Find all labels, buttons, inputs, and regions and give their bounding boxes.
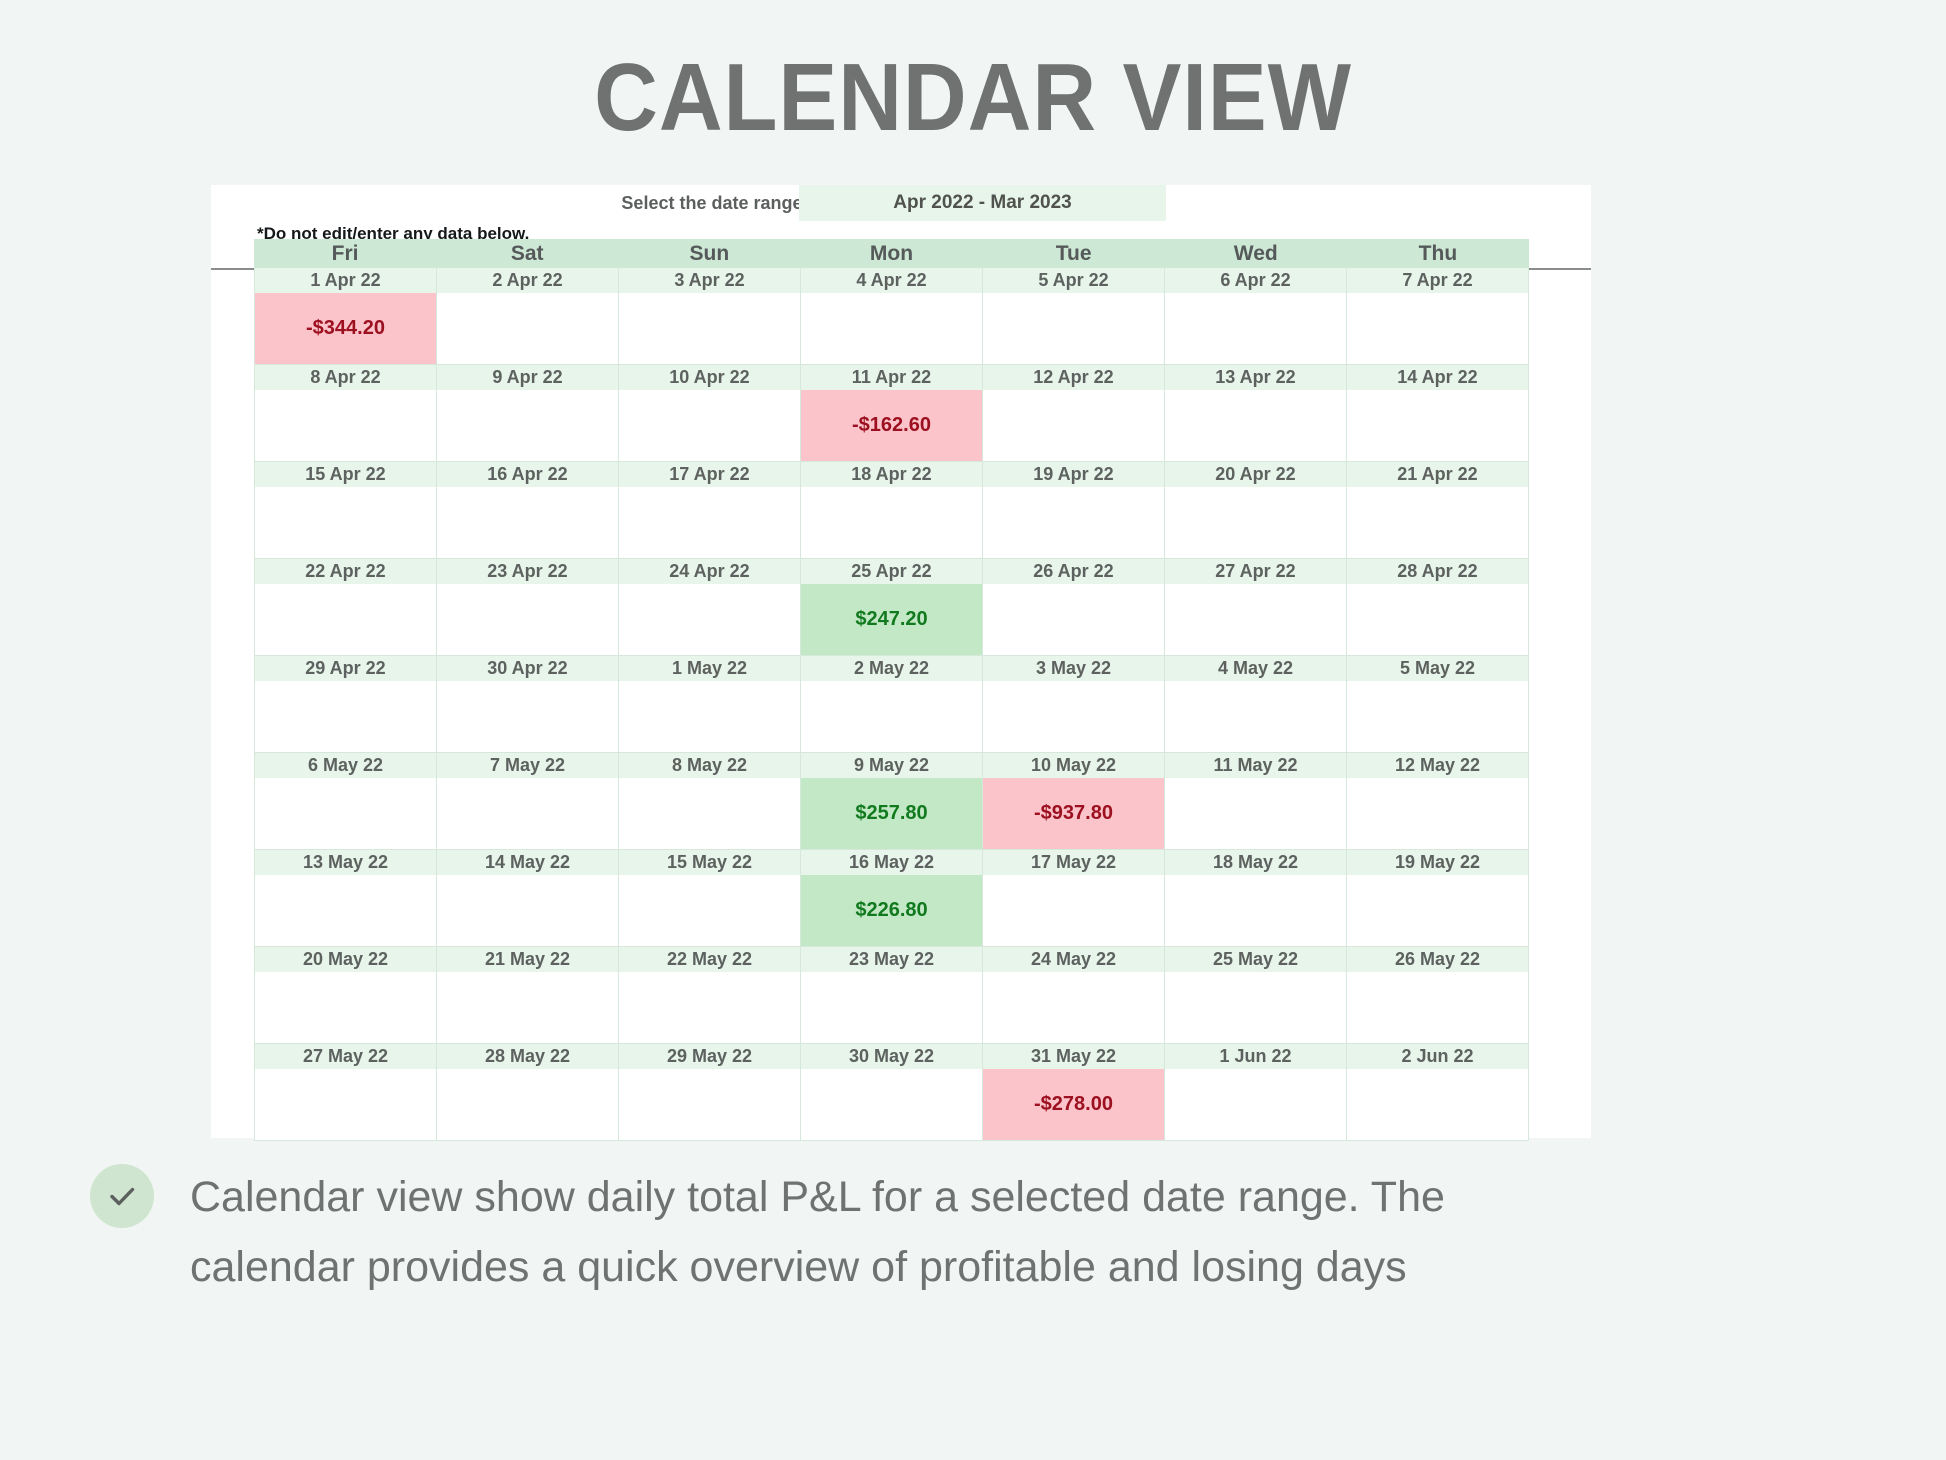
pnl-cell-empty[interactable] <box>982 293 1164 365</box>
calendar-week-row: 29 Apr 2230 Apr 221 May 222 May 223 May … <box>254 656 1529 753</box>
pnl-cell-empty[interactable] <box>254 584 436 656</box>
weekday-header-mon: Mon <box>800 239 982 268</box>
pnl-cell-loss[interactable]: -$344.20 <box>254 293 436 365</box>
pnl-cell-empty[interactable] <box>1164 972 1346 1044</box>
pnl-value-row: -$162.60 <box>254 390 1529 462</box>
pnl-cell-empty[interactable] <box>436 293 618 365</box>
weekday-header-tue: Tue <box>983 239 1165 268</box>
date-label-cell: 1 May 22 <box>618 656 800 681</box>
date-label-cell: 20 Apr 22 <box>1164 462 1346 487</box>
pnl-cell-profit[interactable]: $226.80 <box>800 875 982 947</box>
date-label-cell: 6 May 22 <box>254 753 436 778</box>
pnl-cell-empty[interactable] <box>618 1069 800 1141</box>
pnl-cell-empty[interactable] <box>618 875 800 947</box>
pnl-cell-empty[interactable] <box>254 681 436 753</box>
pnl-cell-empty[interactable] <box>1346 293 1529 365</box>
caption-block: Calendar view show daily total P&L for a… <box>90 1162 1790 1302</box>
page-title: CALENDAR VIEW <box>78 46 1868 150</box>
date-label-cell: 10 Apr 22 <box>618 365 800 390</box>
date-label-cell: 3 Apr 22 <box>618 268 800 293</box>
date-label-cell: 30 Apr 22 <box>436 656 618 681</box>
date-label-row: 1 Apr 222 Apr 223 Apr 224 Apr 225 Apr 22… <box>254 268 1529 293</box>
date-label-cell: 2 Jun 22 <box>1346 1044 1529 1069</box>
date-label-cell: 11 Apr 22 <box>800 365 982 390</box>
pnl-cell-empty[interactable] <box>1164 681 1346 753</box>
date-label-cell: 1 Apr 22 <box>254 268 436 293</box>
pnl-cell-empty[interactable] <box>618 681 800 753</box>
pnl-value-row: -$344.20 <box>254 293 1529 365</box>
pnl-cell-loss[interactable]: -$278.00 <box>982 1069 1164 1141</box>
pnl-cell-empty[interactable] <box>436 584 618 656</box>
date-label-cell: 5 Apr 22 <box>982 268 1164 293</box>
calendar-grid: FriSatSunMonTueWedThu 1 Apr 222 Apr 223 … <box>254 239 1529 1141</box>
date-label-row: 6 May 227 May 228 May 229 May 2210 May 2… <box>254 753 1529 778</box>
date-label-cell: 3 May 22 <box>982 656 1164 681</box>
pnl-value-row: -$278.00 <box>254 1069 1529 1141</box>
date-label-cell: 24 May 22 <box>982 947 1164 972</box>
date-label-cell: 22 Apr 22 <box>254 559 436 584</box>
pnl-value-row: $247.20 <box>254 584 1529 656</box>
pnl-cell-loss[interactable]: -$162.60 <box>800 390 982 462</box>
date-label-cell: 1 Jun 22 <box>1164 1044 1346 1069</box>
pnl-cell-empty[interactable] <box>982 875 1164 947</box>
pnl-cell-empty[interactable] <box>1346 681 1529 753</box>
pnl-cell-empty[interactable] <box>982 487 1164 559</box>
pnl-cell-empty[interactable] <box>618 778 800 850</box>
date-label-cell: 12 Apr 22 <box>982 365 1164 390</box>
pnl-cell-empty[interactable] <box>1346 778 1529 850</box>
pnl-cell-empty[interactable] <box>1164 293 1346 365</box>
pnl-cell-empty[interactable] <box>436 390 618 462</box>
pnl-cell-empty[interactable] <box>1346 390 1529 462</box>
pnl-cell-empty[interactable] <box>800 681 982 753</box>
pnl-cell-empty[interactable] <box>800 1069 982 1141</box>
calendar-week-row: 8 Apr 229 Apr 2210 Apr 2211 Apr 2212 Apr… <box>254 365 1529 462</box>
date-label-cell: 8 May 22 <box>618 753 800 778</box>
pnl-cell-empty[interactable] <box>982 681 1164 753</box>
pnl-cell-empty[interactable] <box>618 293 800 365</box>
date-label-row: 22 Apr 2223 Apr 2224 Apr 2225 Apr 2226 A… <box>254 559 1529 584</box>
pnl-cell-empty[interactable] <box>618 487 800 559</box>
pnl-cell-empty[interactable] <box>1346 584 1529 656</box>
pnl-cell-empty[interactable] <box>800 293 982 365</box>
pnl-value-row <box>254 487 1529 559</box>
pnl-cell-empty[interactable] <box>254 1069 436 1141</box>
date-label-cell: 9 Apr 22 <box>436 365 618 390</box>
date-label-cell: 30 May 22 <box>800 1044 982 1069</box>
pnl-cell-empty[interactable] <box>254 487 436 559</box>
pnl-cell-empty[interactable] <box>436 875 618 947</box>
weekday-header-row: FriSatSunMonTueWedThu <box>254 239 1529 268</box>
weekday-header-fri: Fri <box>254 239 436 268</box>
date-label-cell: 11 May 22 <box>1164 753 1346 778</box>
date-label-cell: 13 May 22 <box>254 850 436 875</box>
date-range-toolbar: Select the date range > Apr 2022 - Mar 2… <box>211 185 1591 223</box>
date-label-cell: 28 Apr 22 <box>1346 559 1529 584</box>
date-label-cell: 4 Apr 22 <box>800 268 982 293</box>
pnl-cell-empty[interactable] <box>618 390 800 462</box>
pnl-cell-empty[interactable] <box>1164 875 1346 947</box>
date-label-cell: 16 Apr 22 <box>436 462 618 487</box>
date-label-cell: 17 Apr 22 <box>618 462 800 487</box>
date-label-cell: 18 Apr 22 <box>800 462 982 487</box>
pnl-cell-empty[interactable] <box>1346 1069 1529 1141</box>
date-label-cell: 24 Apr 22 <box>618 559 800 584</box>
date-label-cell: 18 May 22 <box>1164 850 1346 875</box>
date-label-cell: 13 Apr 22 <box>1164 365 1346 390</box>
pnl-cell-empty[interactable] <box>436 778 618 850</box>
date-label-row: 8 Apr 229 Apr 2210 Apr 2211 Apr 2212 Apr… <box>254 365 1529 390</box>
weekday-header-sun: Sun <box>618 239 800 268</box>
date-label-cell: 25 Apr 22 <box>800 559 982 584</box>
date-label-row: 29 Apr 2230 Apr 221 May 222 May 223 May … <box>254 656 1529 681</box>
pnl-cell-empty[interactable] <box>1346 487 1529 559</box>
pnl-value-row: $257.80-$937.80 <box>254 778 1529 850</box>
date-label-cell: 15 May 22 <box>618 850 800 875</box>
weekday-header-thu: Thu <box>1347 239 1529 268</box>
date-label-cell: 9 May 22 <box>800 753 982 778</box>
date-label-cell: 31 May 22 <box>982 1044 1164 1069</box>
pnl-cell-empty[interactable] <box>1346 875 1529 947</box>
date-label-cell: 23 Apr 22 <box>436 559 618 584</box>
spreadsheet-panel: Select the date range > Apr 2022 - Mar 2… <box>211 185 1591 1138</box>
calendar-week-row: 20 May 2221 May 2222 May 2223 May 2224 M… <box>254 947 1529 1044</box>
caption-text: Calendar view show daily total P&L for a… <box>190 1162 1530 1302</box>
pnl-cell-empty[interactable] <box>1346 972 1529 1044</box>
date-label-cell: 25 May 22 <box>1164 947 1346 972</box>
pnl-cell-empty[interactable] <box>436 681 618 753</box>
calendar-week-row: 1 Apr 222 Apr 223 Apr 224 Apr 225 Apr 22… <box>254 268 1529 365</box>
date-label-cell: 23 May 22 <box>800 947 982 972</box>
pnl-cell-empty[interactable] <box>1164 584 1346 656</box>
pnl-value-row <box>254 681 1529 753</box>
pnl-cell-empty[interactable] <box>436 1069 618 1141</box>
date-label-cell: 26 Apr 22 <box>982 559 1164 584</box>
date-label-cell: 20 May 22 <box>254 947 436 972</box>
date-label-cell: 27 May 22 <box>254 1044 436 1069</box>
date-range-select[interactable]: Apr 2022 - Mar 2023 <box>799 185 1166 221</box>
date-label-cell: 19 Apr 22 <box>982 462 1164 487</box>
date-label-cell: 27 Apr 22 <box>1164 559 1346 584</box>
date-label-row: 13 May 2214 May 2215 May 2216 May 2217 M… <box>254 850 1529 875</box>
date-label-cell: 29 May 22 <box>618 1044 800 1069</box>
date-label-cell: 14 May 22 <box>436 850 618 875</box>
date-label-cell: 10 May 22 <box>982 753 1164 778</box>
pnl-cell-empty[interactable] <box>1164 778 1346 850</box>
date-label-cell: 22 May 22 <box>618 947 800 972</box>
date-label-cell: 12 May 22 <box>1346 753 1529 778</box>
date-label-cell: 2 Apr 22 <box>436 268 618 293</box>
date-label-cell: 8 Apr 22 <box>254 365 436 390</box>
pnl-cell-empty[interactable] <box>254 875 436 947</box>
date-label-cell: 4 May 22 <box>1164 656 1346 681</box>
calendar-week-row: 22 Apr 2223 Apr 2224 Apr 2225 Apr 2226 A… <box>254 559 1529 656</box>
pnl-cell-empty[interactable] <box>982 972 1164 1044</box>
date-label-cell: 21 Apr 22 <box>1346 462 1529 487</box>
date-range-label: Select the date range > <box>588 193 818 214</box>
date-label-cell: 7 Apr 22 <box>1346 268 1529 293</box>
pnl-value-row <box>254 972 1529 1044</box>
pnl-cell-empty[interactable] <box>436 972 618 1044</box>
date-label-cell: 21 May 22 <box>436 947 618 972</box>
pnl-cell-empty[interactable] <box>800 487 982 559</box>
pnl-cell-empty[interactable] <box>254 778 436 850</box>
pnl-cell-empty[interactable] <box>436 487 618 559</box>
date-label-cell: 7 May 22 <box>436 753 618 778</box>
pnl-cell-empty[interactable] <box>1164 487 1346 559</box>
calendar-week-row: 15 Apr 2216 Apr 2217 Apr 2218 Apr 2219 A… <box>254 462 1529 559</box>
calendar-week-row: 27 May 2228 May 2229 May 2230 May 2231 M… <box>254 1044 1529 1141</box>
calendar-week-row: 6 May 227 May 228 May 229 May 2210 May 2… <box>254 753 1529 850</box>
date-label-cell: 2 May 22 <box>800 656 982 681</box>
date-label-cell: 14 Apr 22 <box>1346 365 1529 390</box>
pnl-cell-empty[interactable] <box>254 972 436 1044</box>
pnl-cell-empty[interactable] <box>982 390 1164 462</box>
calendar-week-row: 13 May 2214 May 2215 May 2216 May 2217 M… <box>254 850 1529 947</box>
date-label-cell: 26 May 22 <box>1346 947 1529 972</box>
weekday-header-wed: Wed <box>1165 239 1347 268</box>
pnl-cell-profit[interactable]: $257.80 <box>800 778 982 850</box>
pnl-cell-empty[interactable] <box>254 390 436 462</box>
date-label-row: 20 May 2221 May 2222 May 2223 May 2224 M… <box>254 947 1529 972</box>
date-label-cell: 6 Apr 22 <box>1164 268 1346 293</box>
date-label-row: 27 May 2228 May 2229 May 2230 May 2231 M… <box>254 1044 1529 1069</box>
date-label-cell: 16 May 22 <box>800 850 982 875</box>
pnl-cell-empty[interactable] <box>982 584 1164 656</box>
date-label-cell: 19 May 22 <box>1346 850 1529 875</box>
pnl-cell-empty[interactable] <box>800 972 982 1044</box>
date-label-cell: 17 May 22 <box>982 850 1164 875</box>
date-label-cell: 28 May 22 <box>436 1044 618 1069</box>
date-label-row: 15 Apr 2216 Apr 2217 Apr 2218 Apr 2219 A… <box>254 462 1529 487</box>
pnl-cell-empty[interactable] <box>618 972 800 1044</box>
pnl-value-row: $226.80 <box>254 875 1529 947</box>
date-label-cell: 15 Apr 22 <box>254 462 436 487</box>
pnl-cell-empty[interactable] <box>1164 1069 1346 1141</box>
pnl-cell-empty[interactable] <box>1164 390 1346 462</box>
pnl-cell-loss[interactable]: -$937.80 <box>982 778 1164 850</box>
check-icon <box>90 1164 154 1228</box>
date-label-cell: 5 May 22 <box>1346 656 1529 681</box>
date-label-cell: 29 Apr 22 <box>254 656 436 681</box>
pnl-cell-profit[interactable]: $247.20 <box>800 584 982 656</box>
weekday-header-sat: Sat <box>436 239 618 268</box>
pnl-cell-empty[interactable] <box>618 584 800 656</box>
